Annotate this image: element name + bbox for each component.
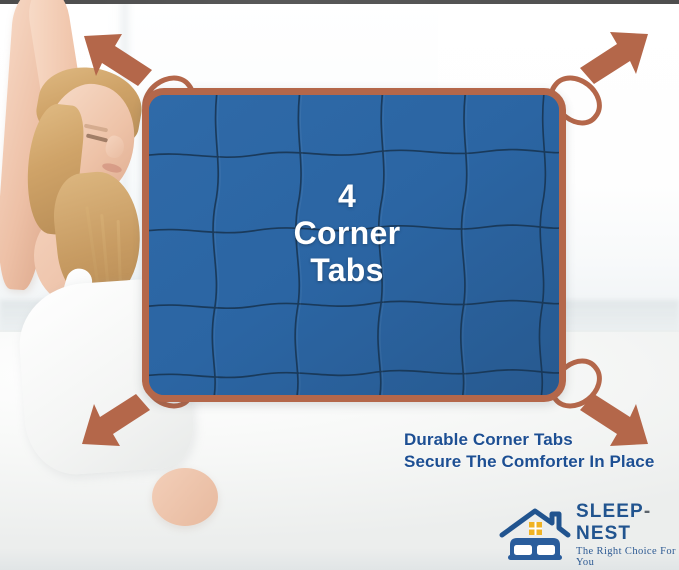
headline-line-3: Tabs bbox=[142, 252, 552, 289]
brand-logo: SLEEP-NEST The Right Choice For You bbox=[496, 504, 676, 564]
knee bbox=[152, 468, 218, 526]
arrow-bottom-left-icon bbox=[80, 392, 152, 450]
brand-name-part2: NEST bbox=[576, 523, 631, 544]
brand-name: SLEEP-NEST bbox=[576, 501, 676, 545]
caption-line-1: Durable Corner Tabs bbox=[404, 429, 654, 451]
headline-line-2: Corner bbox=[142, 215, 552, 252]
caption: Durable Corner Tabs Secure The Comforter… bbox=[404, 429, 654, 473]
brand-name-part1: SLEEP bbox=[576, 501, 644, 522]
arrow-top-right-icon bbox=[578, 28, 650, 86]
caption-line-2: Secure The Comforter In Place bbox=[404, 451, 654, 473]
headline: 4 Corner Tabs bbox=[142, 178, 552, 289]
arrow-top-left-icon bbox=[82, 30, 154, 88]
product-image: 4 Corner Tabs Durable Corner Tabs Secure… bbox=[0, 0, 679, 570]
brand-tagline: The Right Choice For You bbox=[576, 546, 676, 568]
headline-line-1: 4 bbox=[142, 178, 552, 215]
house-with-bed-icon bbox=[496, 505, 574, 563]
brand-wordmark: SLEEP-NEST The Right Choice For You bbox=[576, 501, 676, 568]
brand-name-dash: - bbox=[644, 501, 651, 522]
